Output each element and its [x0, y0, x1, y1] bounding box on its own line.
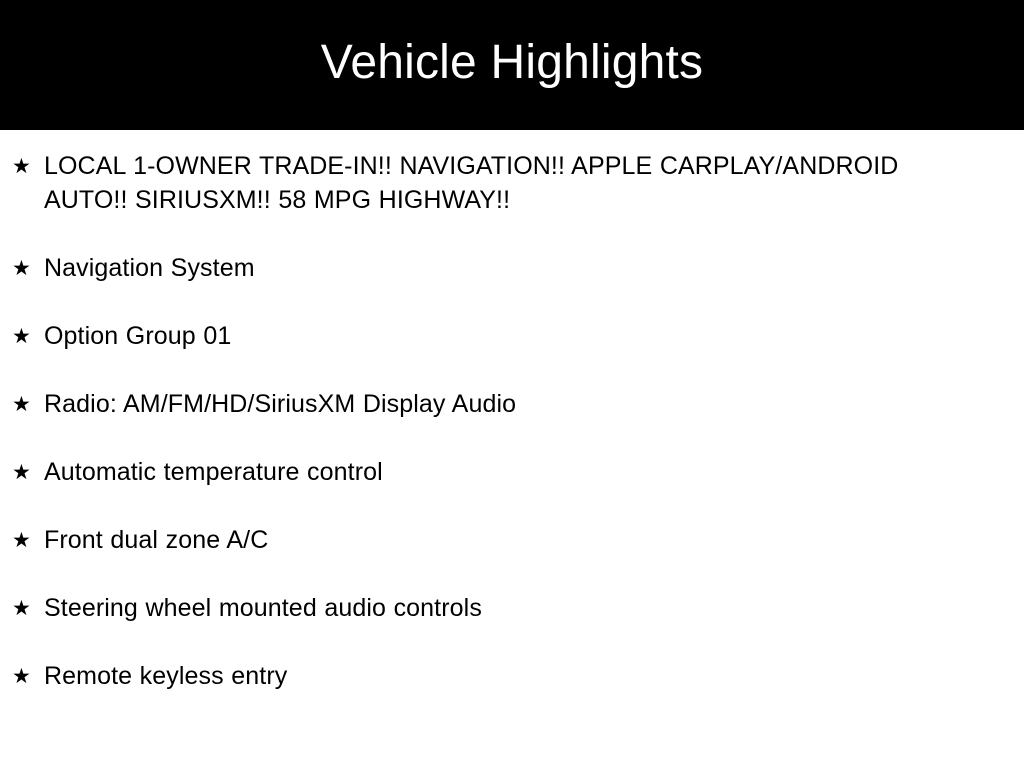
- list-item-label: Remote keyless entry: [44, 659, 900, 693]
- star-bullet-icon: ★: [12, 659, 32, 693]
- list-item-label: Radio: AM/FM/HD/SiriusXM Display Audio: [44, 387, 900, 421]
- list-item: ★ Automatic temperature control: [0, 455, 1024, 489]
- list-item-label: Steering wheel mounted audio controls: [44, 591, 900, 625]
- list-item: ★ Option Group 01: [0, 319, 1024, 353]
- list-item-label: Front dual zone A/C: [44, 523, 900, 557]
- list-item: ★ Remote keyless entry: [0, 659, 1024, 693]
- list-item: ★ Radio: AM/FM/HD/SiriusXM Display Audio: [0, 387, 1024, 421]
- list-item-label: Option Group 01: [44, 319, 900, 353]
- list-item: ★ Navigation System: [0, 251, 1024, 285]
- page-title: Vehicle Highlights: [321, 39, 704, 91]
- star-bullet-icon: ★: [12, 591, 32, 625]
- list-item: ★ Steering wheel mounted audio controls: [0, 591, 1024, 625]
- vehicle-highlights-list: ★ LOCAL 1-OWNER TRADE-IN!! NAVIGATION!! …: [0, 130, 1024, 693]
- star-bullet-icon: ★: [12, 523, 32, 557]
- list-item-label: Automatic temperature control: [44, 455, 900, 489]
- star-bullet-icon: ★: [12, 387, 32, 421]
- star-bullet-icon: ★: [12, 251, 32, 285]
- star-bullet-icon: ★: [12, 149, 32, 183]
- vehicle-highlights-page: Vehicle Highlights ★ LOCAL 1-OWNER TRADE…: [0, 0, 1024, 768]
- list-item-label: Navigation System: [44, 251, 900, 285]
- star-bullet-icon: ★: [12, 319, 32, 353]
- page-header: Vehicle Highlights: [0, 0, 1024, 130]
- list-item-label: LOCAL 1-OWNER TRADE-IN!! NAVIGATION!! AP…: [44, 149, 900, 217]
- list-item: ★ Front dual zone A/C: [0, 523, 1024, 557]
- list-item: ★ LOCAL 1-OWNER TRADE-IN!! NAVIGATION!! …: [0, 149, 1024, 217]
- star-bullet-icon: ★: [12, 455, 32, 489]
